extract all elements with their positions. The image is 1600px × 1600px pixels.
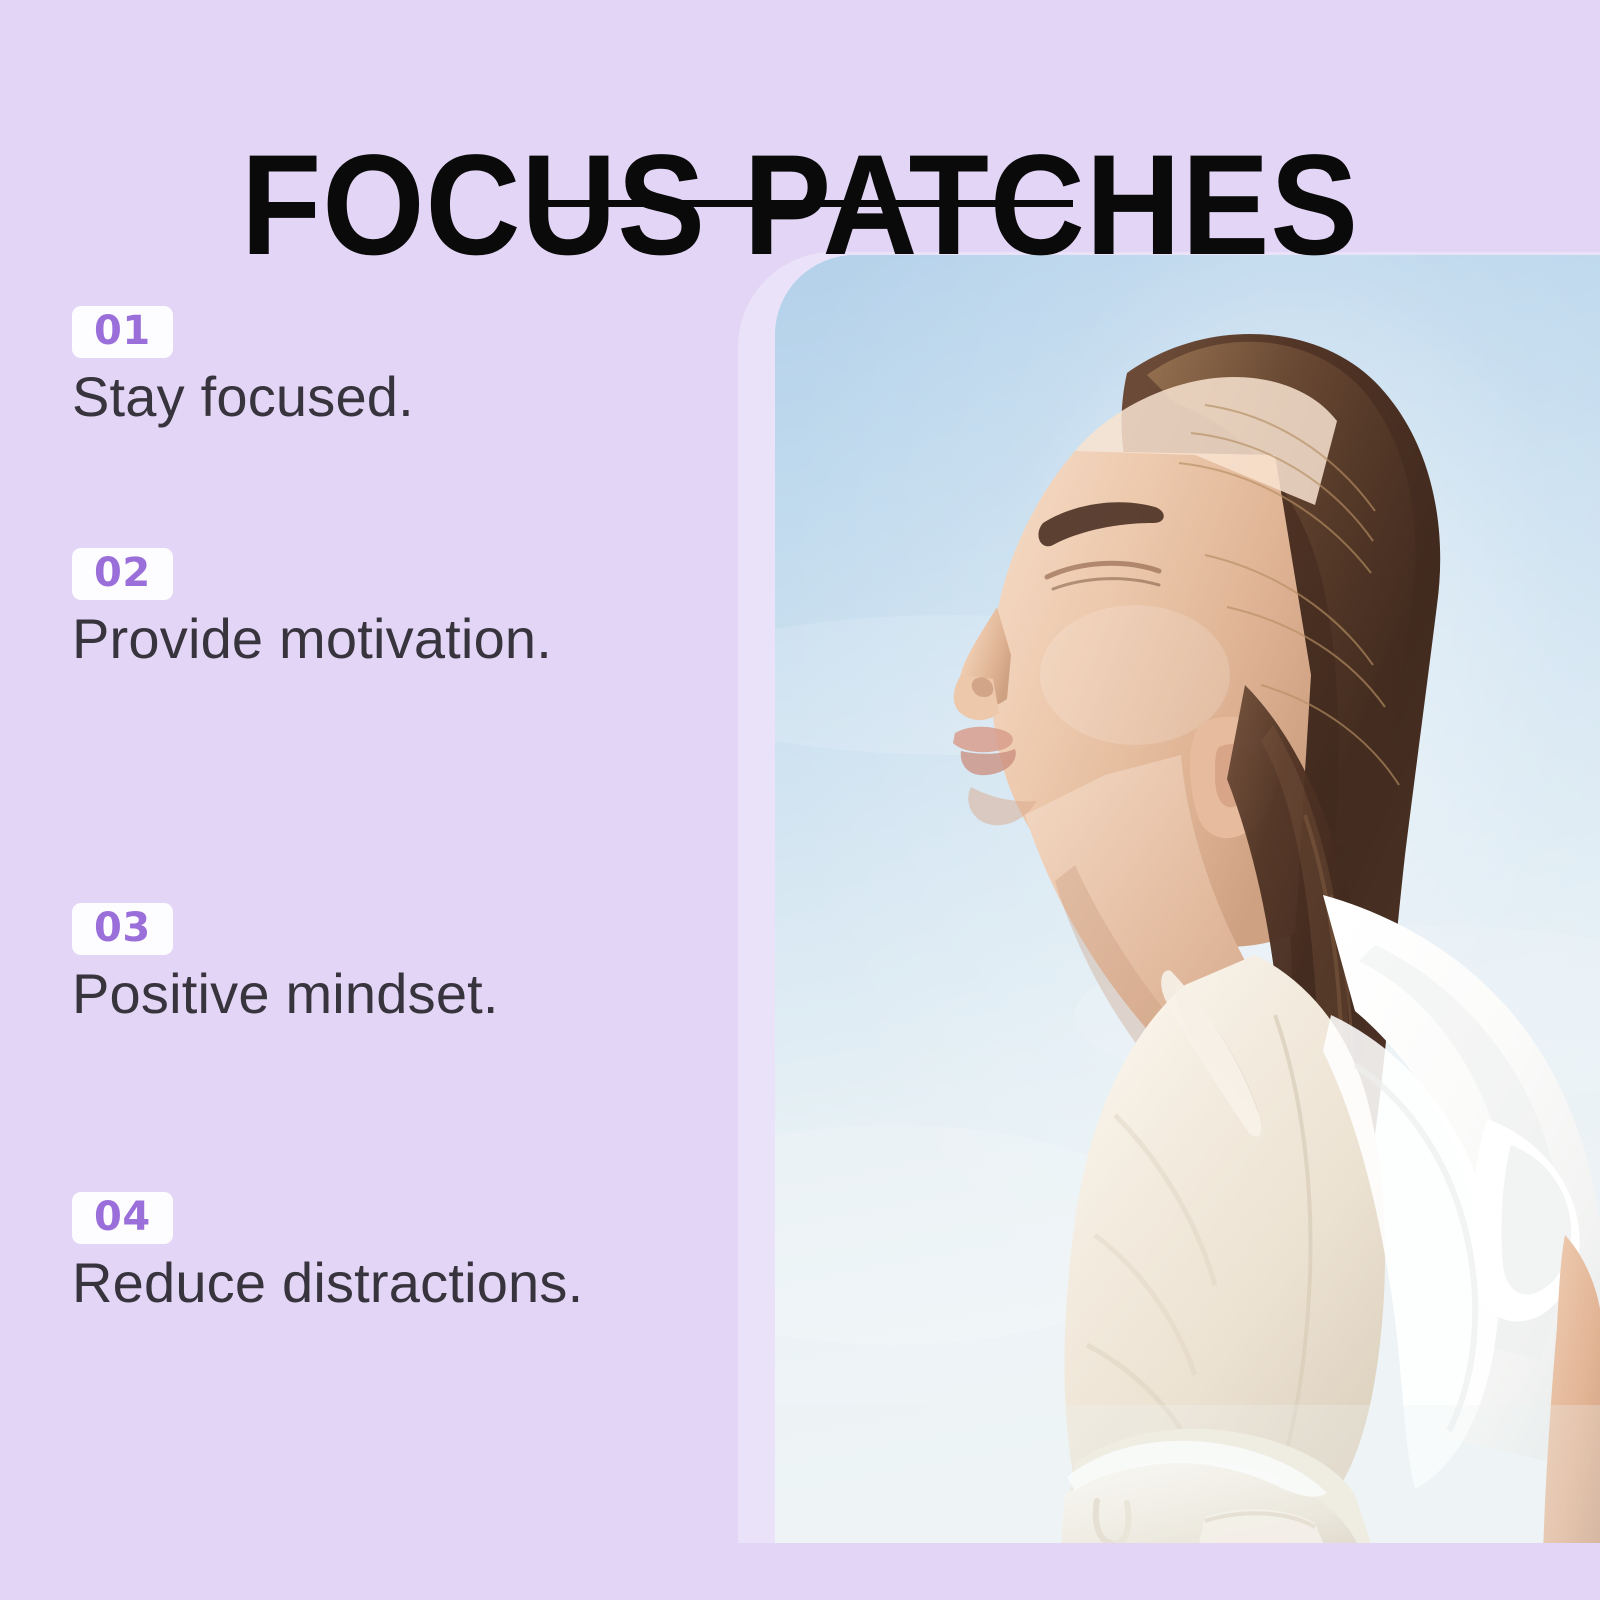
list-item: 01 Stay focused. — [72, 306, 414, 429]
list-item-number-badge: 02 — [72, 548, 173, 600]
list-item-number-badge: 04 — [72, 1192, 173, 1244]
list-item-number-badge: 03 — [72, 903, 173, 955]
list-item: 02 Provide motivation. — [72, 548, 552, 671]
poster-canvas: FOCUS PATCHES 01 Stay focused. 02 Provid… — [0, 0, 1600, 1600]
list-item: 04 Reduce distractions. — [72, 1192, 583, 1315]
list-item-label: Provide motivation. — [72, 608, 552, 671]
list-item: 03 Positive mindset. — [72, 903, 499, 1026]
hero-photo — [775, 255, 1600, 1543]
list-item-label: Positive mindset. — [72, 963, 499, 1026]
list-item-label: Stay focused. — [72, 366, 414, 429]
list-item-label: Reduce distractions. — [72, 1252, 583, 1315]
hero-photo-illustration — [775, 255, 1600, 1543]
title-underline-rule — [533, 200, 1073, 207]
list-item-number-badge: 01 — [72, 306, 173, 358]
